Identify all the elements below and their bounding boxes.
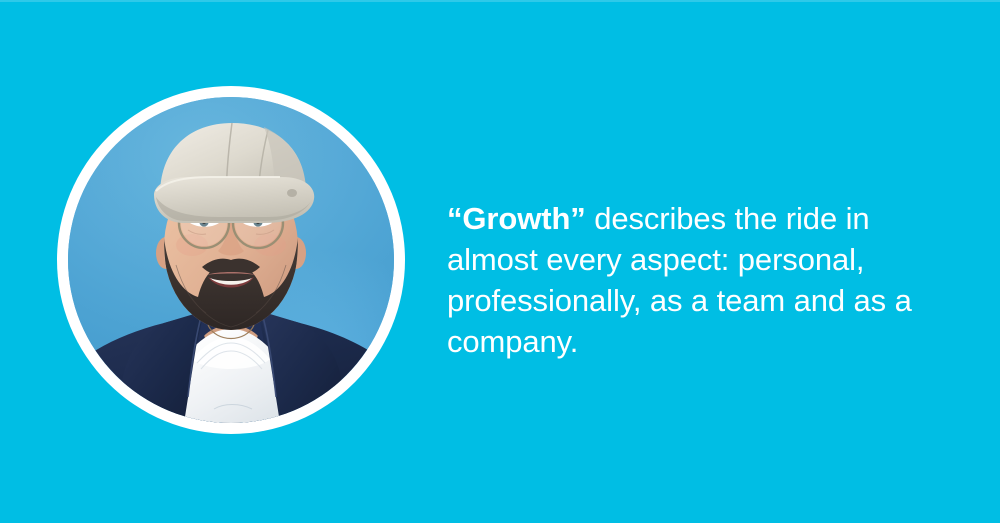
- top-hairline-divider: [0, 0, 1000, 2]
- quote-paragraph: “Growth” describes the ride in almost ev…: [447, 198, 962, 362]
- quote-banner: “Growth” describes the ride in almost ev…: [0, 0, 1000, 523]
- quote-keyword: “Growth”: [447, 201, 586, 236]
- portrait-ring-frame: [57, 86, 405, 434]
- portrait-illustration: [68, 97, 394, 423]
- portrait-photo: [68, 97, 394, 423]
- quote-block: “Growth” describes the ride in almost ev…: [447, 198, 962, 362]
